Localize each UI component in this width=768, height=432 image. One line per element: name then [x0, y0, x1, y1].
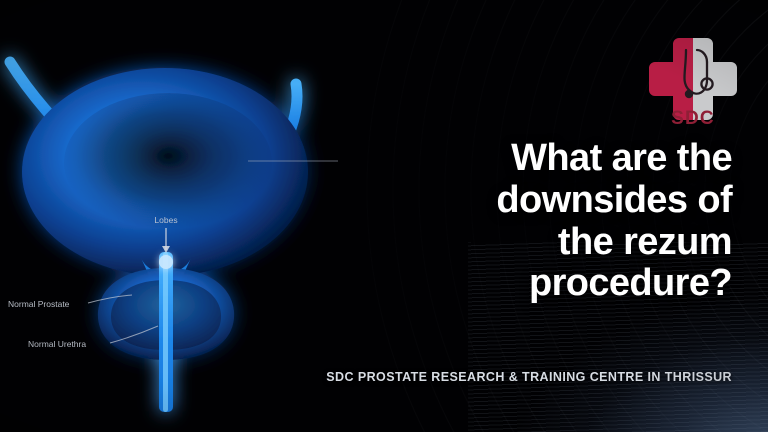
slide-canvas: Lobes Normal Prostate Normal Urethra SDC — [0, 0, 768, 432]
headline-line-4: procedure? — [402, 263, 732, 305]
headline: What are the downsides of the rezum proc… — [402, 138, 732, 305]
label-normal-prostate: Normal Prostate — [8, 299, 70, 309]
label-lobes: Lobes — [154, 215, 177, 225]
bladder-prostate-illustration: Lobes Normal Prostate Normal Urethra — [0, 0, 430, 432]
headline-line-3: the rezum — [402, 222, 732, 264]
label-normal-urethra: Normal Urethra — [28, 339, 86, 349]
subtitle: SDC PROSTATE RESEARCH & TRAINING CENTRE … — [326, 370, 732, 384]
logo-wordmark: SDC — [645, 108, 741, 130]
headline-line-2: downsides of — [402, 180, 732, 222]
headline-line-1: What are the — [402, 138, 732, 180]
